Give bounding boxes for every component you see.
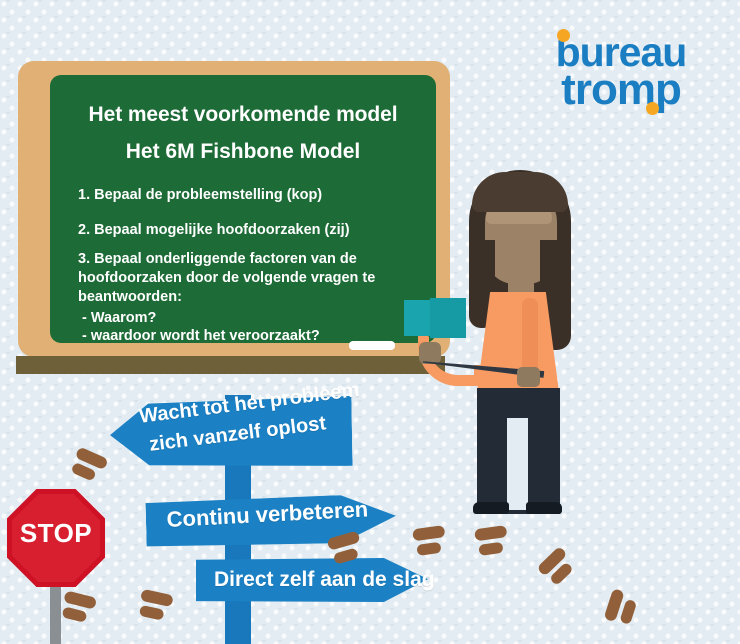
teacher-illustration (400, 150, 600, 500)
footprint-heel (416, 542, 441, 556)
footprint-heel (62, 606, 88, 622)
footprint (59, 590, 99, 627)
footprint-heel (478, 542, 503, 556)
footprint-sole (474, 525, 507, 541)
person-hair-front (472, 172, 568, 212)
stop-sign-label: STOP (7, 518, 105, 549)
chalkboard-step-2: 2. Bepaal mogelijke hoofdoorzaken (zij) (78, 221, 418, 240)
chalkboard-subtitle: Het 6M Fishbone Model (50, 140, 436, 164)
sign-3-label: Direct zelf aan de slag (214, 568, 435, 592)
footprint-heel (139, 605, 165, 621)
chalk-piece-icon (349, 341, 395, 350)
logo-dot-bottom-icon (646, 102, 659, 115)
person-leg-gap (507, 418, 528, 510)
person-hand-lower (517, 367, 540, 387)
footprint (412, 525, 450, 559)
chalkboard-frame: Het meest voorkomende model Het 6M Fishb… (18, 61, 450, 357)
infographic-canvas: bureau tromp Het meest voorkomende model… (0, 0, 740, 644)
chalkboard-step-1: 1. Bepaal de probleemstelling (kop) (78, 186, 418, 205)
footprint (536, 544, 581, 589)
footprint (474, 525, 512, 559)
person-shoe-right (526, 502, 562, 514)
footprint-heel (333, 547, 359, 564)
chalkboard-question-1: - Waarom? (82, 309, 422, 327)
footprint-heel (619, 599, 637, 625)
chalkboard-step-3: 3. Bepaal onderliggende factoren van de … (78, 250, 390, 307)
chalkboard-content: Het meest voorkomende model Het 6M Fishb… (50, 75, 436, 343)
chalkboard-ledge (16, 356, 445, 374)
bureau-tromp-logo[interactable]: bureau tromp (521, 26, 721, 112)
person-sleeve (522, 298, 538, 376)
footprint-sole (140, 589, 174, 607)
chalkboard-surface: Het meest voorkomende model Het 6M Fishb… (50, 75, 436, 343)
footprint (136, 589, 175, 625)
logo-line-tromp: tromp (521, 68, 721, 112)
chalkboard-title: Het meest voorkomende model (50, 103, 436, 127)
person-shoe-left (473, 502, 509, 514)
person-hand-upper (419, 342, 441, 364)
logo-dot-top-icon (557, 29, 570, 42)
footprint (67, 446, 110, 487)
footprint (603, 586, 642, 628)
footprint-sole (412, 525, 445, 541)
chalkboard-eraser-shadow (430, 298, 466, 338)
